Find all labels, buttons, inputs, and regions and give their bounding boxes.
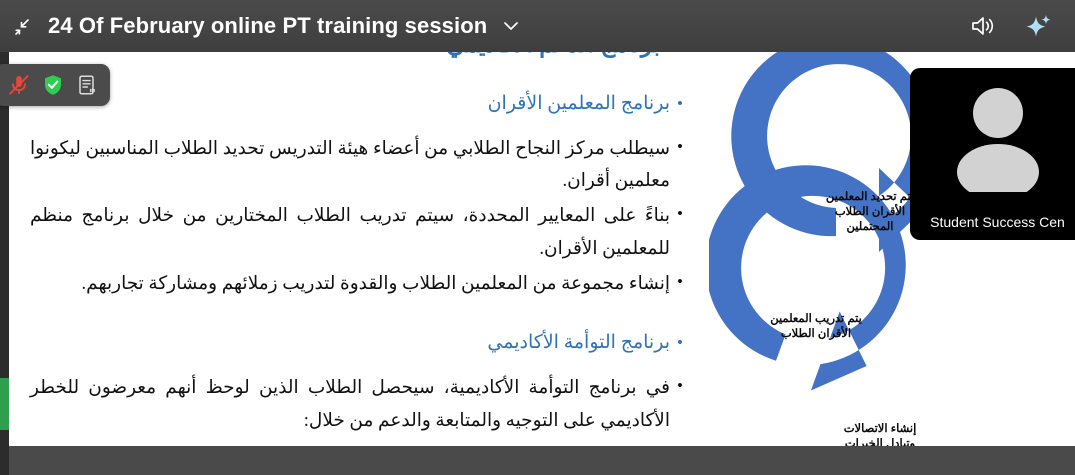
bullet-dot-icon: • xyxy=(670,372,690,397)
slide-bullet-text: سيطلب مركز النجاح الطلابي من أعضاء هيئة … xyxy=(30,133,670,199)
meeting-title-group[interactable]: 24 Of February online PT training sessio… xyxy=(46,13,521,39)
cycle-label-2: يتم تدريب المعلمين الأقران الطلاب xyxy=(751,312,881,342)
slide-bullet-3: • إنشاء مجموعة من المعلمين الطلاب والقدو… xyxy=(30,268,690,301)
sparkle-ai-icon[interactable] xyxy=(1011,0,1065,52)
teams-meeting-window: 24 Of February online PT training sessio… xyxy=(0,0,1075,475)
slide-clipped-title: برنامج الدعم الأكاديمي xyxy=(446,52,660,58)
bullet-dot-icon: • xyxy=(670,329,690,354)
bullet-dot-icon: • xyxy=(670,90,690,115)
bullet-dot-icon: • xyxy=(670,200,690,225)
slide-bullet-1: • سيطلب مركز النجاح الطلابي من أعضاء هيئ… xyxy=(30,133,690,199)
slide-heading-academic-twinning: • برنامج التوأمة الأكاديمي xyxy=(30,329,690,358)
slide-text-column: • برنامج المعلمين الأقران • سيطلب مركز ا… xyxy=(30,90,690,446)
shield-check-icon[interactable] xyxy=(36,64,70,106)
person-avatar-icon xyxy=(910,76,1075,196)
participant-name-label: Student Success Cen xyxy=(910,214,1075,230)
slide-heading-peer-teachers: • برنامج المعلمين الأقران xyxy=(30,90,690,119)
slide-heading-text: برنامج المعلمين الأقران xyxy=(30,90,670,119)
bullet-dot-icon: • xyxy=(670,268,690,293)
collapse-arrows-icon[interactable] xyxy=(0,0,46,52)
slide-bullet-text: في برنامج التوأمة الأكاديمية، سيحصل الطل… xyxy=(30,372,670,438)
slide-bullet-text: إنشاء مجموعة من المعلمين الطلاب والقدوة … xyxy=(30,268,670,301)
chevron-down-icon[interactable] xyxy=(501,16,521,36)
meeting-controls-toolbar xyxy=(0,64,110,106)
spacer xyxy=(30,303,690,329)
left-edge-green-indicator xyxy=(0,378,9,430)
cycle-label-3: إنشاء الاتصالات وتبادل الخبرات xyxy=(815,422,945,446)
page-title: 24 Of February online PT training sessio… xyxy=(48,13,487,39)
slide-bullet-4: • في برنامج التوأمة الأكاديمية، سيحصل ال… xyxy=(30,372,690,438)
slide-bullet-2: • بناءً على المعايير المحددة، سيتم تدريب… xyxy=(30,200,690,266)
spacer xyxy=(30,360,690,372)
spacer xyxy=(30,121,690,133)
bottom-bar xyxy=(0,446,1075,475)
speaker-volume-icon[interactable] xyxy=(957,0,1011,52)
meeting-header-bar: 24 Of February online PT training sessio… xyxy=(0,0,1075,52)
microphone-muted-icon[interactable] xyxy=(2,64,36,106)
slide-bullet-text: بناءً على المعايير المحددة، سيتم تدريب ا… xyxy=(30,200,670,266)
slide-heading-text: برنامج التوأمة الأكاديمي xyxy=(30,329,670,358)
participant-video-tile[interactable]: Student Success Cen xyxy=(910,68,1075,240)
bullet-dot-icon: • xyxy=(670,133,690,158)
transcript-document-icon[interactable] xyxy=(70,64,104,106)
